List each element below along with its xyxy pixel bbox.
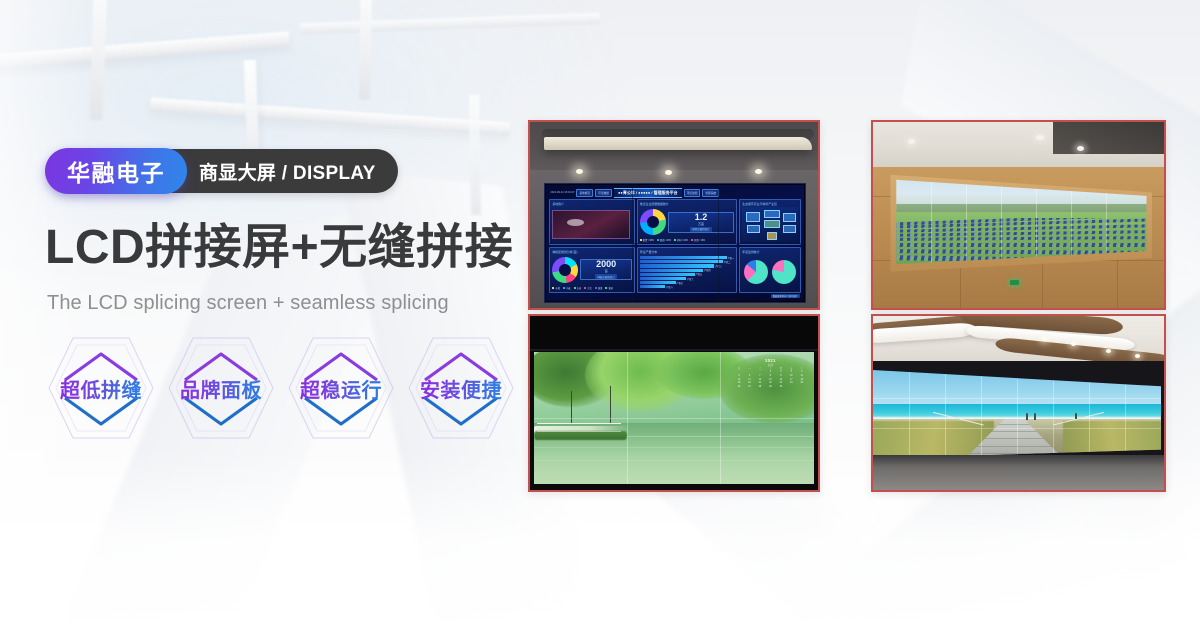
donut-legend: 粮食 / 38% 果蔬 / 26% 药材 / 20% 其他 / 16% — [640, 238, 734, 242]
dashboard-nav-tab[interactable]: 管理系统 — [702, 189, 719, 197]
calendar-weekday: 日 — [734, 368, 744, 371]
dashboard-nav-tab[interactable]: 环境数据 — [595, 189, 612, 197]
calendar-day: 9 — [776, 375, 786, 378]
dashboard-footer: 数据更新时间 / 实时同步 — [548, 294, 801, 299]
legend-item: 其他 / 16% — [691, 238, 705, 242]
feature-badge-label: 超低拼缝 — [60, 374, 142, 403]
calendar-day: 24 — [786, 382, 796, 385]
legend-item: 药材 / 20% — [674, 238, 688, 242]
calendar-day: 20 — [745, 382, 755, 385]
bar-row: 产区五 — [640, 273, 734, 276]
calendar-day — [734, 371, 744, 374]
pie-chart — [744, 260, 768, 284]
bar-row: 产区八 — [640, 285, 734, 288]
bar-row: 产区三 — [640, 264, 734, 267]
calendar-day: 5 — [734, 375, 744, 378]
pie-chart — [772, 260, 796, 284]
donut-chart — [552, 257, 578, 283]
photo-dashboard-video-wall: 2021-09-13 16:01:27 基地概况 环境数据 ●●青公年 / ●●… — [528, 120, 820, 310]
photo-willow-lake-video-wall: 2021 九月 日 一 二 三 四 五 六 1 2 — [528, 314, 820, 492]
bar-label: 产区七 — [677, 281, 684, 285]
donut-legend: 水稻 小麦 玉米 大豆 蔬菜 果树 — [552, 286, 631, 290]
calendar-overlay: 2021 九月 日 一 二 三 四 五 六 1 2 — [734, 358, 807, 411]
dashboard-body: 基地简介 重点企业质量数据统计 — [548, 198, 801, 293]
bar-chart: 产区一 产区二 产区三 产区四 — [640, 255, 734, 290]
bar-label: 产区四 — [704, 268, 711, 272]
calendar-day: 1 — [765, 371, 775, 374]
brand-pill-label: 华融电子 — [67, 154, 165, 188]
legend-item: 粮食 / 38% — [640, 238, 654, 242]
page-title: LCD拼接屏+无缝拼接 — [45, 222, 513, 274]
ceiling-spotlight-icon — [755, 169, 762, 174]
calendar-grid: 日 一 二 三 四 五 六 1 2 3 4 5 — [734, 368, 807, 389]
legend-item: 果蔬 / 26% — [657, 238, 671, 242]
legend-item: 玉米 — [574, 286, 582, 290]
dashboard-card-quality: 重点企业质量数据统计 1.2 万亩 基地总面积统计 — [637, 199, 737, 245]
lobby-floor — [873, 455, 1164, 490]
metric-sub: 种植总面积统计 — [595, 274, 617, 279]
bar-label: 产区六 — [687, 277, 694, 281]
calendar-weekday: 五 — [786, 368, 796, 371]
bar-row: 产区一 — [640, 256, 734, 259]
dashboard-row: 基地简介 重点企业质量数据统计 — [549, 199, 800, 245]
white-railing — [537, 423, 621, 432]
calendar-day: 14 — [755, 379, 765, 382]
bar-row: 产区四 — [640, 269, 734, 272]
exit-sign-icon — [1010, 280, 1019, 285]
calendar-day — [755, 371, 765, 374]
bar-row: 产区二 — [640, 260, 734, 263]
calendar-day: 23 — [776, 382, 786, 385]
text-column: 华融电子 商显大屏 / DISPLAY LCD拼接屏+无缝拼接 The LCD … — [45, 0, 545, 640]
calendar-day: 10 — [786, 375, 796, 378]
calendar-day: 18 — [797, 379, 807, 382]
dashboard-card-monitor: 年度监测统计 — [739, 247, 800, 293]
calendar-weekday: 二 — [755, 368, 765, 371]
card-header: 年生产量分布 — [640, 250, 734, 254]
metric-value: 2000 — [596, 260, 616, 269]
screen-bezel-top — [530, 316, 818, 351]
card-header: 重点企业质量数据统计 — [640, 202, 734, 206]
cove-light — [544, 137, 812, 150]
page-subtitle: The LCD splicing screen + seamless splic… — [47, 292, 449, 315]
video-wall-screen: 2021 九月 日 一 二 三 四 五 六 1 2 — [534, 352, 813, 484]
photo-solar-farm-video-wall — [871, 120, 1166, 310]
calendar-weekday: 三 — [765, 368, 775, 371]
card-body — [552, 207, 631, 242]
ceiling-light-icon — [1077, 146, 1084, 151]
donut-center-label — [552, 257, 578, 283]
feature-badge-label: 品牌面板 — [180, 374, 262, 403]
card-header: 基地简介 — [552, 202, 631, 206]
calendar-day: 27 — [745, 386, 755, 389]
dashboard-card-output: 年生产量分布 产区一 产区二 产区三 — [637, 247, 737, 293]
ceiling-dark-panel — [1053, 122, 1164, 154]
legend-item: 果树 — [605, 286, 613, 290]
calendar-day: 2 — [776, 371, 786, 374]
feature-badge-4: 安装便捷 — [405, 332, 517, 444]
dashboard-nav-tab[interactable]: 环境监测 — [684, 189, 701, 197]
calendar-day: 11 — [797, 375, 807, 378]
video-wall-screen: 2021-09-13 16:01:27 基地概况 环境数据 ●●青公年 / ●●… — [544, 183, 805, 302]
calendar-day: 16 — [776, 379, 786, 382]
calendar-day: 21 — [755, 382, 765, 385]
calendar-weekday: 一 — [745, 368, 755, 371]
calendar-day: 4 — [797, 371, 807, 374]
dashboard-nav-tab[interactable]: 基地概况 — [576, 189, 593, 197]
calendar-day: 22 — [765, 382, 775, 385]
bar-label: 产区二 — [724, 260, 731, 264]
donut-center-label — [640, 209, 666, 235]
tagline-label: 商显大屏 / DISPLAY — [199, 158, 376, 185]
calendar-weekday: 四 — [776, 368, 786, 371]
calendar-day: 15 — [765, 379, 775, 382]
legend-item: 大豆 — [584, 286, 592, 290]
hedge — [534, 431, 626, 440]
brand-pill: 华融电子 — [45, 148, 187, 194]
card-body: 1.2 万亩 基地总面积统计 — [640, 207, 734, 237]
metric-tile: 1.2 万亩 基地总面积统计 — [668, 212, 734, 233]
card-header: 生态循环农业与种养产业链 — [742, 202, 797, 206]
ceiling-light-icon — [908, 139, 915, 144]
calendar-month: 九月 — [768, 363, 773, 367]
dashboard-card-flow: 生态循环农业与种养产业链 — [739, 199, 800, 245]
pie-chart-group — [742, 255, 797, 290]
calendar-day: 26 — [734, 386, 744, 389]
metric-sub: 基地总面积统计 — [690, 227, 712, 232]
bar-label: 产区八 — [666, 285, 673, 289]
dashboard-card-intro: 基地简介 — [549, 199, 634, 245]
legend-item: 水稻 — [552, 286, 560, 290]
dashboard-title: ●●青公年 / ●●●●● / 管理服务平台 — [614, 188, 682, 198]
calendar-day: 30 — [776, 386, 786, 389]
bar-row: 产区六 — [640, 277, 734, 280]
feature-badge-label: 超稳运行 — [300, 374, 382, 403]
donut-chart — [640, 209, 666, 235]
calendar-day: 6 — [745, 375, 755, 378]
metric-unit: 万亩 — [698, 222, 704, 226]
card-body: 2000 亩 种植总面积统计 — [552, 255, 631, 285]
calendar-day: 19 — [734, 382, 744, 385]
dashboard-header: 2021-09-13 16:01:27 基地概况 环境数据 ●●青公年 / ●●… — [548, 187, 801, 198]
calendar-day — [745, 371, 755, 374]
calendar-weekday: 六 — [797, 368, 807, 371]
brand-badge-row: 华融电子 商显大屏 / DISPLAY — [45, 148, 398, 194]
metric-tile: 2000 亩 种植总面积统计 — [580, 259, 631, 280]
card-header: 种植区规划分析(亩) — [552, 250, 631, 254]
product-photo-grid: 2021-09-13 16:01:27 基地概况 环境数据 ●●青公年 / ●●… — [528, 120, 1166, 492]
ceiling-spotlight-icon — [576, 169, 583, 174]
card-header: 年度监测统计 — [742, 250, 797, 254]
flow-diagram — [742, 207, 797, 242]
dashboard-footer-note: 数据更新时间 / 实时同步 — [771, 294, 800, 299]
feature-badge-2: 品牌面板 — [165, 332, 277, 444]
calendar-day: 7 — [755, 375, 765, 378]
calendar-day-highlight: 13 — [745, 379, 755, 382]
metric-unit: 亩 — [605, 269, 608, 273]
legend-item: 蔬菜 — [595, 286, 603, 290]
legend-item: 小麦 — [563, 286, 571, 290]
calendar-day: 25 — [797, 382, 807, 385]
calendar-day: 3 — [786, 371, 796, 374]
calendar-day: 8 — [765, 375, 775, 378]
calendar-day: 28 — [755, 386, 765, 389]
feature-badge-row: 超低拼缝 品牌面板 超稳运行 — [45, 332, 517, 444]
intro-thumbnail — [552, 210, 629, 239]
bar-row: 产区七 — [640, 281, 734, 284]
banner-root: 华融电子 商显大屏 / DISPLAY LCD拼接屏+无缝拼接 The LCD … — [0, 0, 1200, 640]
calendar-day: 29 — [765, 386, 775, 389]
photo-beach-boardwalk-video-wall — [871, 314, 1166, 492]
calendar-day: 17 — [786, 379, 796, 382]
feature-badge-3: 超稳运行 — [285, 332, 397, 444]
calendar-day: 12 — [734, 379, 744, 382]
dashboard-row: 种植区规划分析(亩) 2000 亩 种植总面积统计 — [549, 247, 800, 293]
feature-badge-1: 超低拼缝 — [45, 332, 157, 444]
ceiling-light-icon — [1036, 135, 1044, 140]
bar-label: 产区五 — [696, 272, 703, 276]
feature-badge-label: 安装便捷 — [420, 374, 502, 403]
metric-value: 1.2 — [695, 213, 708, 222]
dashboard-card-planting: 种植区规划分析(亩) 2000 亩 种植总面积统计 — [549, 247, 634, 293]
dashboard-timestamp: 2021-09-13 16:01:27 — [550, 191, 574, 194]
